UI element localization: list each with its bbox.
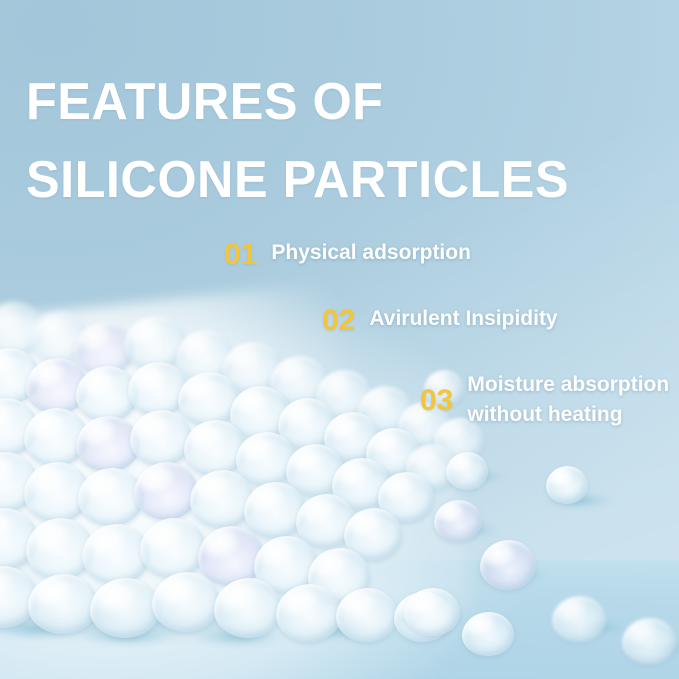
background-floor-haze [0,575,679,635]
feature-text-2: Avirulent Insipidity [369,304,557,334]
feature-text-2-line-1: Avirulent Insipidity [369,304,557,334]
feature-number-2: 02 [322,304,355,337]
feature-text-1: Physical adsorption [271,238,471,268]
feature-item-2: 02 Avirulent Insipidity [322,304,558,337]
feature-text-3-line-2: without heating [467,400,669,430]
feature-text-3: Moisture absorption without heating [467,370,669,430]
feature-number-3: 03 [420,384,453,417]
feature-text-3-line-1: Moisture absorption [467,370,669,400]
feature-text-1-line-1: Physical adsorption [271,238,471,268]
feature-number-1: 01 [224,238,257,271]
poster-canvas: FEATURES OF SILICONE PARTICLES 01 Physic… [0,0,679,679]
feature-item-1: 01 Physical adsorption [224,238,471,271]
page-title-line-1: FEATURES OF [26,63,618,141]
page-title: FEATURES OF SILICONE PARTICLES [26,63,618,219]
page-title-line-2: SILICONE PARTICLES [26,141,618,219]
feature-item-3: 03 Moisture absorption without heating [420,370,669,430]
